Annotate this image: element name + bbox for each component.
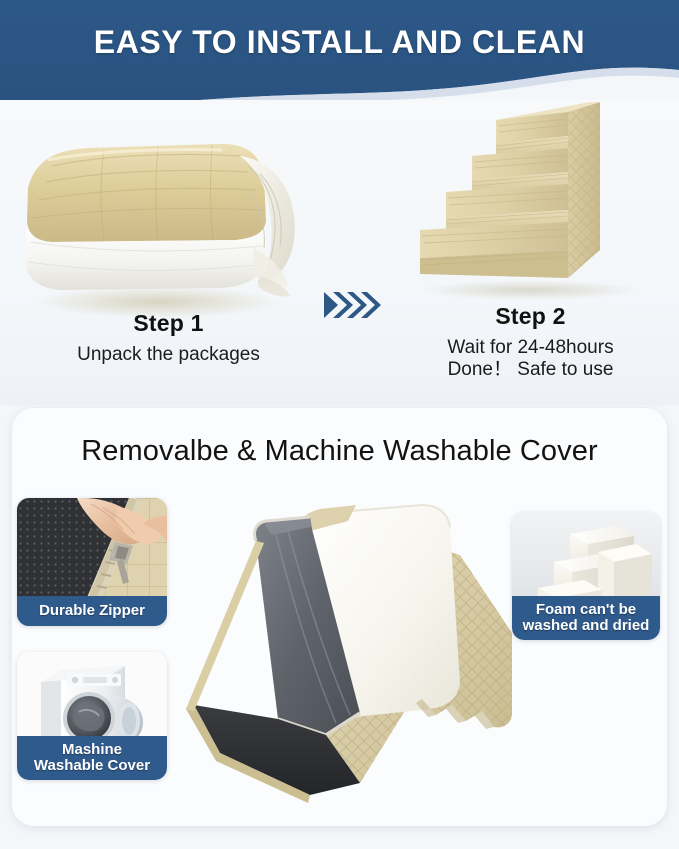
vacuum-sealed-package-photo	[8, 130, 318, 320]
feature-foam-no-wash: Foam can't be washed and dried	[512, 512, 660, 640]
step-2-text-line-2: Done！ Safe to use	[398, 359, 663, 381]
steps-section: Step 1 Unpack the packages Step 2 Wait f…	[0, 100, 679, 405]
feature-machine-washable-label: Mashine Washable Cover	[17, 736, 167, 780]
assembled-pet-stairs-photo	[400, 100, 655, 300]
feature-foam-no-wash-label: Foam can't be washed and dried	[512, 596, 660, 640]
infographic-page: EASY TO INSTALL AND CLEAN	[0, 0, 679, 849]
feature-foam-no-wash-label-line-2: washed and dried	[523, 618, 650, 634]
stairs-with-cover-peeled-back-photo	[160, 483, 522, 823]
feature-durable-zipper-label-line-1: Durable Zipper	[39, 603, 145, 619]
step-2-text-line-1: Wait for 24-48hours	[398, 337, 663, 359]
page-title: EASY TO INSTALL AND CLEAN	[0, 24, 679, 61]
feature-machine-washable-label-line-1: Mashine	[34, 742, 150, 758]
step-1-title: Step 1	[16, 310, 321, 337]
step-1-text: Unpack the packages	[16, 344, 321, 366]
step-1-caption: Step 1 Unpack the packages	[16, 310, 321, 366]
step-2-caption: Step 2 Wait for 24-48hours Done！ Safe to…	[398, 303, 663, 382]
step-2-title: Step 2	[398, 303, 663, 330]
feature-machine-washable-label-line-2: Washable Cover	[34, 758, 150, 774]
feature-foam-no-wash-label-line-1: Foam can't be	[523, 602, 650, 618]
chevron-arrows-icon	[322, 288, 384, 322]
cover-section-title: Removalbe & Machine Washable Cover	[12, 435, 667, 468]
feature-durable-zipper-label: Durable Zipper	[17, 596, 167, 626]
feature-durable-zipper: Durable Zipper	[17, 498, 167, 626]
feature-machine-washable: Mashine Washable Cover	[17, 652, 167, 780]
